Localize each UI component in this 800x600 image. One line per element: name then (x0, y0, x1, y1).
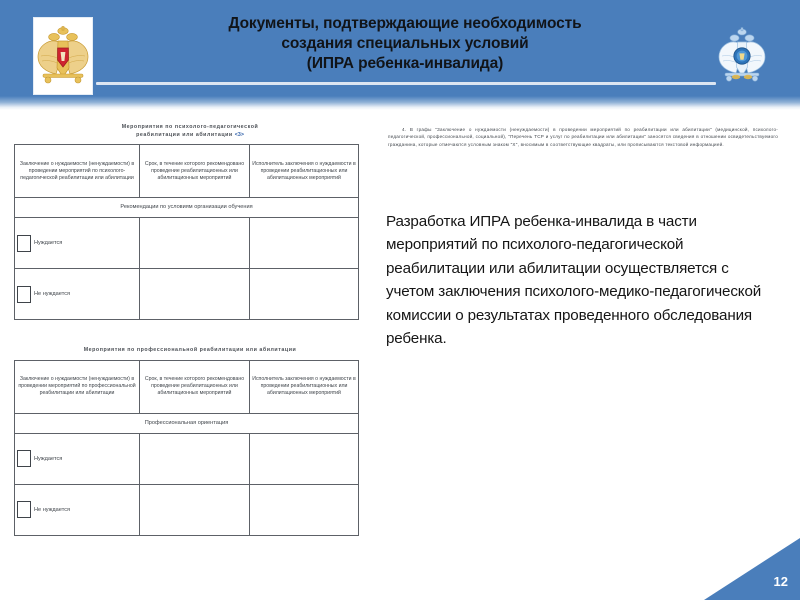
table-1-term-cell-1[interactable] (140, 218, 250, 269)
table-2-option-label-1: Нуждается (34, 455, 62, 463)
table-1-option-cell-2: Не нуждается (15, 269, 140, 320)
table-gap (14, 320, 366, 347)
page-title-line-2: создания специальных условий (100, 34, 710, 54)
header-band-fade (0, 96, 800, 110)
table-1-column-header-1: Заключение о нуждаемости (ненуждаемости)… (15, 145, 140, 198)
table-2-caption-line-1: Мероприятия по профессиональной реабилит… (84, 347, 297, 353)
table-professional: Заключение о нуждаемости (ненуждаемости)… (14, 360, 359, 536)
table-1-column-header-2: Срок, в течение которого рекомендовано п… (140, 145, 250, 198)
checkbox-not-needs-1[interactable] (17, 286, 31, 303)
legal-note-text: 4. В графы "Заключение о нуждаемости (не… (388, 127, 778, 147)
table-1-executor-cell-2[interactable] (250, 269, 359, 320)
page-title: Документы, подтверждающие необходимость … (100, 14, 710, 74)
table-2-column-header-2: Срок, в течение которого рекомендовано п… (140, 360, 250, 413)
checkbox-not-needs-2[interactable] (17, 501, 31, 518)
table-2-executor-cell-2[interactable] (250, 484, 359, 535)
table-1-caption-line-1: Мероприятия по психолого-педагогической (122, 124, 259, 130)
table-1-executor-cell-1[interactable] (250, 218, 359, 269)
slide: Документы, подтверждающие необходимость … (0, 0, 800, 600)
document-column: Мероприятия по психолого-педагогической … (14, 124, 366, 536)
ministry-crest-icon (712, 18, 772, 94)
table-row: Не нуждается (15, 269, 359, 320)
header-divider-rule (96, 82, 716, 85)
russian-coat-of-arms-icon (33, 17, 93, 95)
table-1-column-header-3: Исполнитель заключения о нуждаемости в п… (250, 145, 359, 198)
table-1-option-label-2: Не нуждается (34, 290, 70, 298)
table-2-column-header-3: Исполнитель заключения о нуждаемости в п… (250, 360, 359, 413)
checkbox-needs-1[interactable] (17, 235, 31, 252)
table-1-option-cell-1: Нуждается (15, 218, 140, 269)
table-1-option-label-1: Нуждается (34, 239, 62, 247)
main-paragraph: Разработка ИПРА ребенка-инвалида в части… (386, 210, 780, 350)
table-2-term-cell-2[interactable] (140, 484, 250, 535)
table-2-column-header-1: Заключение о нуждаемости (ненуждаемости)… (15, 360, 140, 413)
checkbox-needs-2[interactable] (17, 450, 31, 467)
page-title-line-1: Документы, подтверждающие необходимость (100, 14, 710, 34)
table-2-executor-cell-1[interactable] (250, 433, 359, 484)
table-1-caption: Мероприятия по психолого-педагогической … (64, 124, 316, 139)
table-1-caption-footnote: <3> (235, 132, 244, 138)
table-2-term-cell-1[interactable] (140, 433, 250, 484)
legal-note-paragraph: 4. В графы "Заключение о нуждаемости (не… (388, 126, 778, 148)
table-psychological-pedagogical: Заключение о нуждаемости (ненуждаемости)… (14, 144, 359, 320)
table-1-caption-line-2: реабилитации или абилитации (136, 132, 233, 138)
table-row: Нуждается (15, 218, 359, 269)
table-row: Нуждается (15, 433, 359, 484)
table-1-section-row: Рекомендации по условиям организации обу… (15, 198, 359, 218)
table-row-section: Профессиональная ориентация (15, 413, 359, 433)
table-2-section-row: Профессиональная ориентация (15, 413, 359, 433)
table-row-section: Рекомендации по условиям организации обу… (15, 198, 359, 218)
table-1-term-cell-2[interactable] (140, 269, 250, 320)
table-row-headers: Заключение о нуждаемости (ненуждаемости)… (15, 145, 359, 198)
table-2-option-label-2: Не нуждается (34, 506, 70, 514)
page-title-line-3: (ИПРА ребенка-инвалида) (100, 54, 710, 74)
table-2-caption: Мероприятия по профессиональной реабилит… (64, 347, 316, 355)
table-2-option-cell-2: Не нуждается (15, 484, 140, 535)
table-2-option-cell-1: Нуждается (15, 433, 140, 484)
corner-triangle (704, 538, 800, 600)
table-row-headers: Заключение о нуждаемости (ненуждаемости)… (15, 360, 359, 413)
page-number-corner: 12 (704, 538, 800, 600)
table-row: Не нуждается (15, 484, 359, 535)
page-number: 12 (774, 575, 788, 589)
